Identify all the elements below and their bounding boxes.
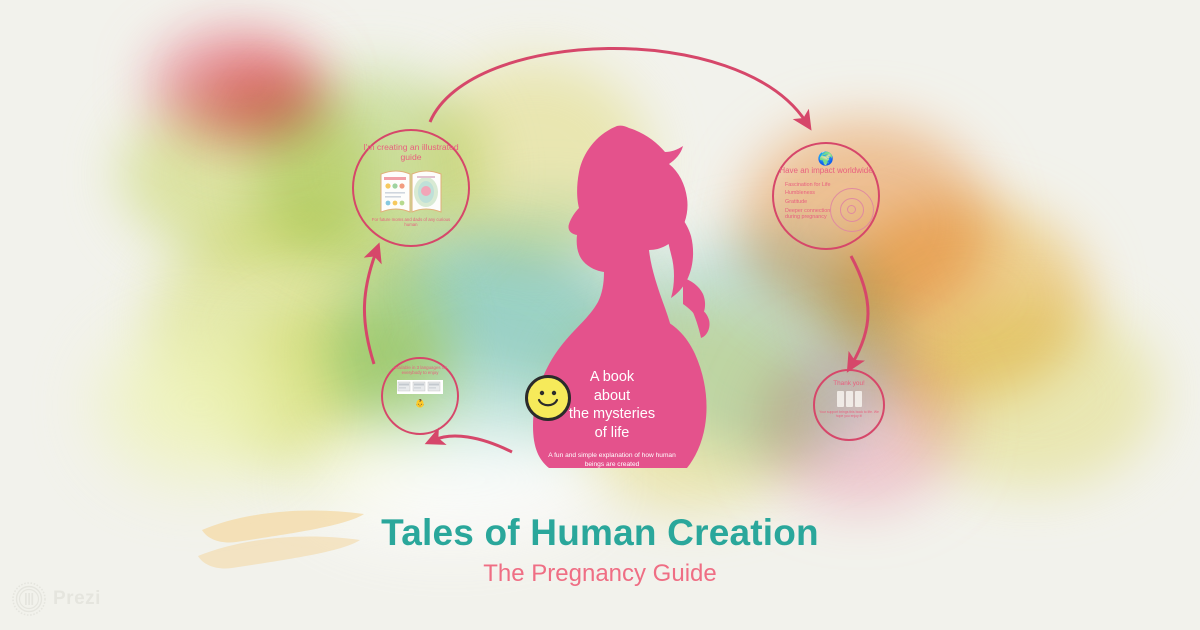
node-languages-title: Available in 3 languages for everybody t… (389, 366, 451, 376)
list-item: Humbleness (785, 189, 837, 197)
globe-icon: 🌍 (818, 152, 834, 165)
node-impact-title: Have an impact worldwide (779, 167, 872, 176)
node-illustrated-guide[interactable]: I'm creating an illustrated guide (352, 129, 470, 247)
node-illustrated-guide-title: I'm creating an illustrated guide (354, 143, 468, 162)
node-illustrated-guide-caption: For future moms and dads of any curious … (365, 218, 457, 228)
list-item: Fascination for Life (785, 181, 837, 189)
center-subtext: A fun and simple explanation of how huma… (548, 452, 676, 469)
headline-line: about (548, 387, 676, 406)
arrow-center-to-languages (434, 436, 512, 452)
page-title: Tales of Human Creation (0, 512, 1200, 554)
slide-canvas: I'm creating an illustrated guide (0, 0, 1200, 630)
open-book-icon (379, 168, 443, 214)
headline-line: A book (548, 368, 676, 387)
headline-line: the mysteries (548, 405, 676, 424)
node-impact-worldwide[interactable]: 🌍 Have an impact worldwide Fascination f… (772, 142, 880, 250)
arrow-impact-to-thanks (851, 256, 868, 364)
baby-emoji-icon: 👶 (415, 399, 425, 408)
node-languages[interactable]: Available in 3 languages for everybody t… (381, 357, 459, 435)
language-flags-strip (397, 380, 443, 394)
prezi-branding[interactable]: Prezi (12, 582, 101, 616)
headline-line: of life (548, 424, 676, 443)
node-impact-list: Fascination for Life Humbleness Gratitud… (785, 181, 837, 221)
prezi-badge-icon (12, 582, 46, 616)
center-headline: A book about the mysteries of life (548, 368, 676, 442)
arrow-languages-to-guide (364, 252, 376, 364)
list-item: Gratitude (785, 198, 837, 206)
prezi-wordmark: Prezi (53, 588, 101, 610)
decorative-shapes (837, 391, 862, 407)
list-item: Deeper connection during pregnancy (785, 208, 837, 220)
node-thank-you-title: Thank you! (833, 380, 865, 387)
center-book-copy: A book about the mysteries of life A fun… (548, 368, 676, 469)
page-subtitle: The Pregnancy Guide (0, 560, 1200, 588)
node-thank-you-caption: Your support brings this book to life. W… (818, 411, 880, 419)
node-thank-you[interactable]: Thank you! Your support brings this book… (813, 369, 885, 441)
